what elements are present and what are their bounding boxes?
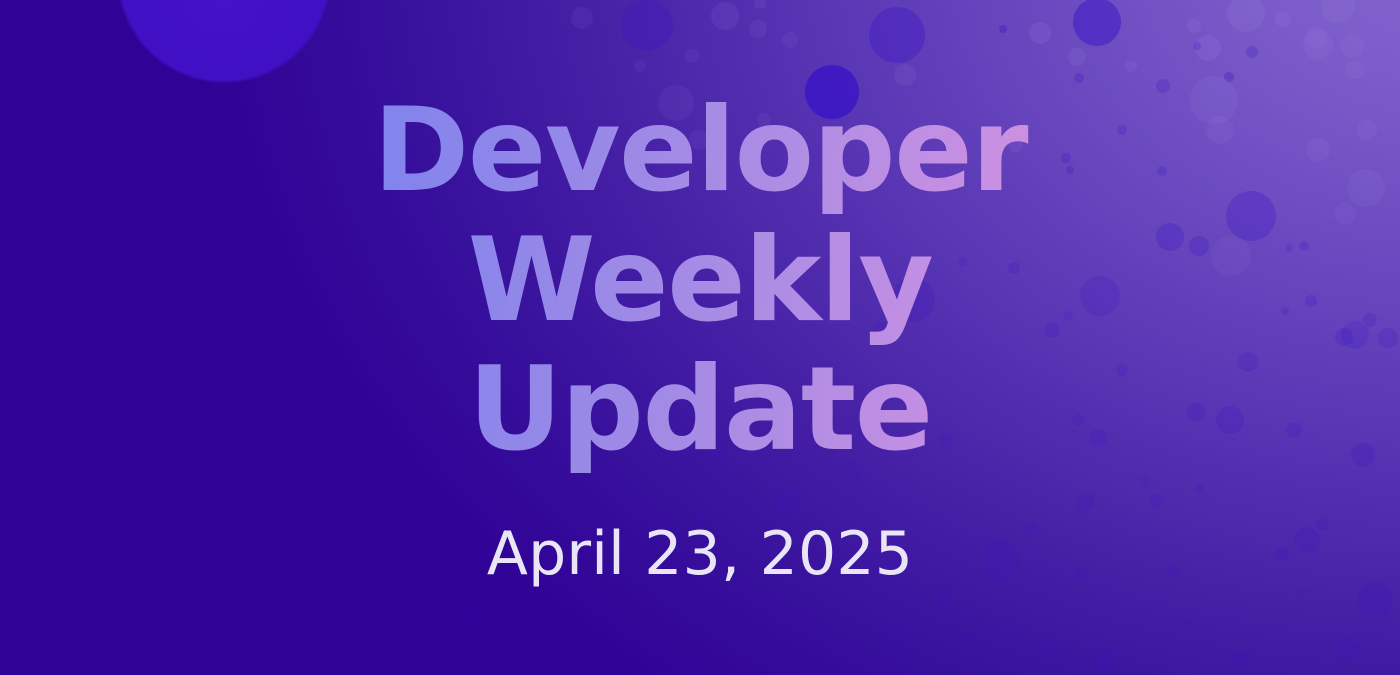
title-line-2: Weekly Update [260, 216, 1140, 476]
page-title: Developer Weekly Update [260, 86, 1140, 476]
banner-content: Developer Weekly Update April 23, 2025 [0, 0, 1400, 675]
issue-date: April 23, 2025 [487, 475, 913, 589]
title-line-1: Developer [260, 86, 1140, 216]
developer-weekly-update-banner: Developer Weekly Update April 23, 2025 [0, 0, 1400, 675]
